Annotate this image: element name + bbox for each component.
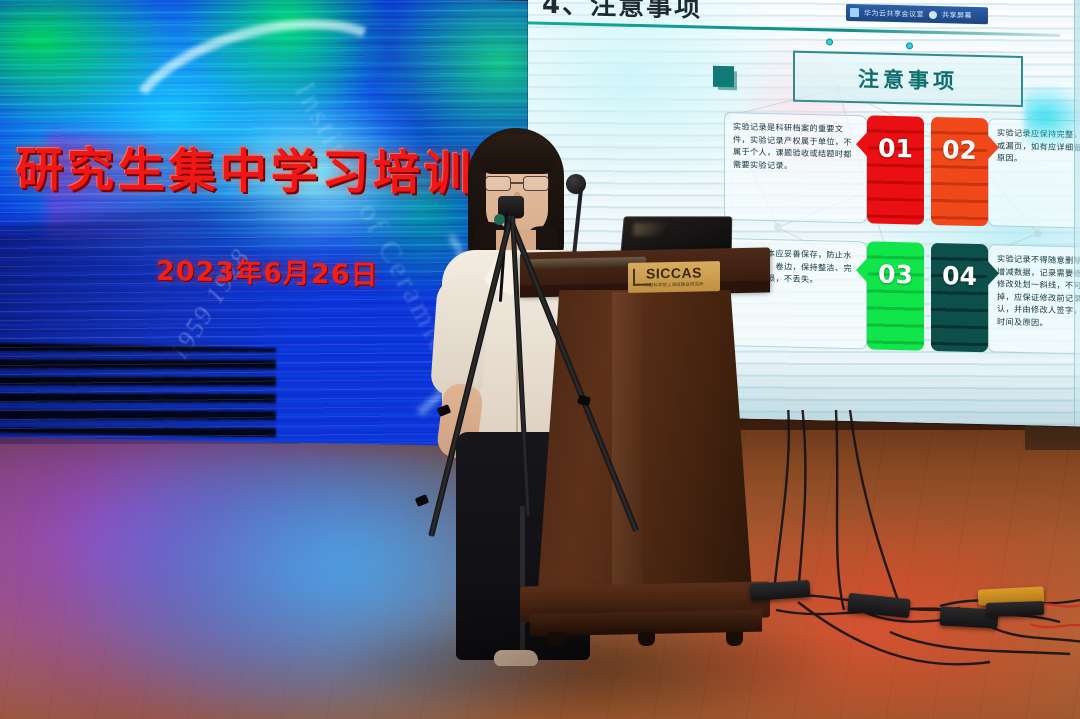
power-strip-5 [986,601,1044,617]
slide-right-strip [1074,0,1080,427]
led-date-text: 2023年6月26日 [156,249,379,292]
slide-square-marker [713,66,734,87]
arrow-left-icon [856,131,868,157]
led-title-text: 研究生集中学习培训 [16,131,486,204]
lens-left [485,176,511,191]
tripod-leg-right [428,215,514,537]
item-04-number-bar: 04 [931,243,988,352]
slide-cyan-edge-glow [1024,81,1080,153]
glasses-bridge [511,182,523,184]
item-03-number: 03 [878,260,913,290]
tripod-collar-lower[interactable] [415,494,429,507]
item-04-number: 04 [942,261,977,291]
logo-text: SICCAS [646,265,702,280]
tripod-collar-left[interactable] [437,404,451,417]
item-02-number: 02 [942,135,977,165]
slide-row-bottom: 实验记录本应妥善保存，防止水湿、墨污、卷边，保持整洁、完好、无破损，不丢失。 0… [724,238,1080,356]
item-04-text: 实验记录不得随意删除、修改或增减数据，记录需要修改，应在修改处划一斜线，不可完全… [988,244,1080,355]
meeting-taskbar[interactable]: 华为云共享会议室 共享屏幕 [846,4,988,24]
lens-right [523,176,549,191]
glasses-icon [484,176,550,191]
share-icon [850,8,859,17]
arrow-right-icon [987,260,999,286]
logo-subtitle: 中国科学院上海硅酸盐研究所 [644,281,704,288]
arrow-right-icon [987,134,999,160]
logo-mark-icon [633,268,651,285]
row-gap [924,117,931,225]
row-gap [924,243,931,351]
lectern-floor-shadow [330,600,850,719]
selection-handle-left[interactable] [826,38,833,45]
taskbar-label: 华为云共享会议室 [864,8,924,19]
tripod-collar-right[interactable] [577,395,591,407]
item-02-number-bar: 02 [931,117,988,226]
hair-front [480,134,556,174]
slide-card-heading: 注意事项 [793,51,1023,107]
photo-scene: Institute of Ceramics 1959 1928 研究生集中学习培… [0,0,1080,719]
selection-handle-right[interactable] [906,42,913,49]
arrow-left-icon [856,257,868,283]
item-03-number-bar: 03 [867,241,924,350]
siccas-logo: SICCAS 中国科学院上海硅酸盐研究所 [628,261,720,293]
slide-section-title: 4、注意事项 [542,0,702,25]
laptop-screen-glint [633,223,676,236]
taskbar-right-label: 共享屏幕 [942,10,972,21]
item-01-number-bar: 01 [867,115,924,224]
item-01-text: 实验记录是科研档案的重要文件，实验记录产权属于单位，不属于个人，课题验收或结题时… [724,112,867,223]
speaker-icon [929,10,937,18]
microphone-head-icon [566,174,586,194]
slide-card-heading-text: 注意事项 [858,63,958,95]
item-01-number: 01 [878,134,913,164]
